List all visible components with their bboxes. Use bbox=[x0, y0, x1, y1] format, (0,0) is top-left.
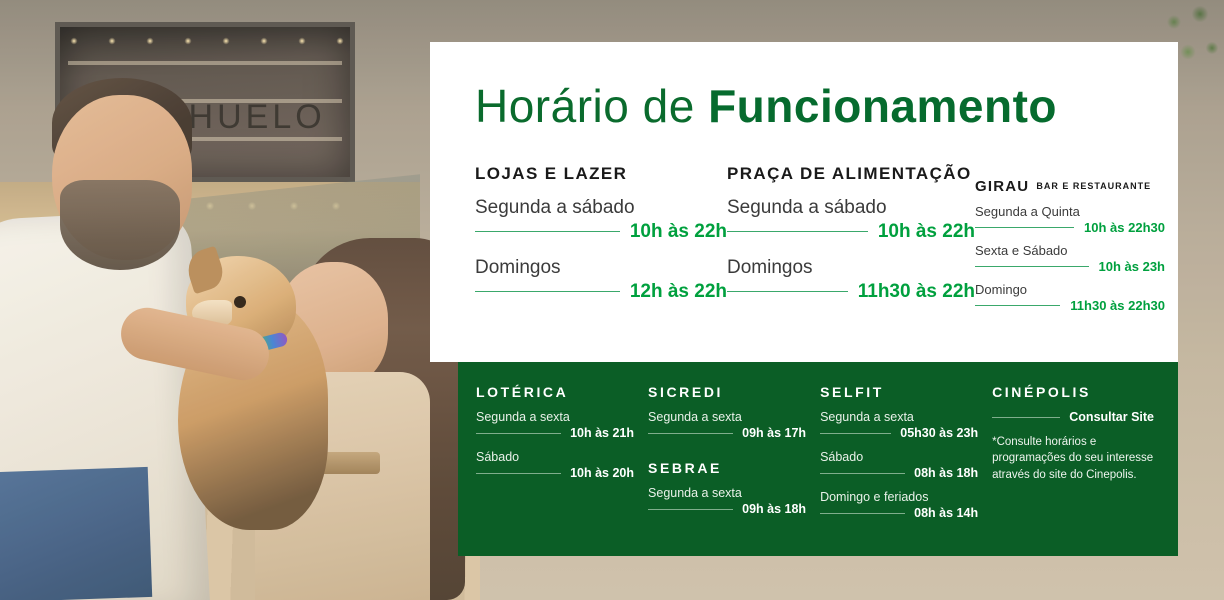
time-value: 10h às 20h bbox=[570, 466, 634, 480]
hours-green-panel: LOTÉRICA Segunda a sexta 10h às 21h Sába… bbox=[458, 362, 1178, 556]
column-selfit: SELFIT Segunda a sexta 05h30 às 23h Sába… bbox=[820, 384, 992, 530]
hours-entry: Segunda a sábado 10h às 22h bbox=[727, 197, 975, 243]
day-label: Sábado bbox=[476, 450, 634, 464]
time-value: 05h30 às 23h bbox=[900, 426, 978, 440]
time-value: 11h30 às 22h30 bbox=[1070, 298, 1165, 313]
green-columns: LOTÉRICA Segunda a sexta 10h às 21h Sába… bbox=[476, 384, 1168, 530]
page-title: Horário de Funcionamento bbox=[475, 82, 1057, 130]
time-value: 09h às 17h bbox=[742, 426, 806, 440]
rule-line bbox=[975, 227, 1074, 228]
hours-entry: Domingo 11h30 às 22h30 bbox=[975, 282, 1165, 313]
girau-subtitle: BAR E RESTAURANTE bbox=[1036, 181, 1151, 191]
page-root: CHUELO Horário de Funcionamento LOJAS E … bbox=[0, 0, 1224, 600]
time-value: 08h às 14h bbox=[914, 506, 978, 520]
section-title-girau: GIRAUBAR E RESTAURANTE bbox=[975, 178, 1165, 196]
hours-entry: Segunda a sexta 09h às 18h bbox=[648, 486, 806, 516]
time-row: 09h às 18h bbox=[648, 502, 806, 516]
column-loterica: LOTÉRICA Segunda a sexta 10h às 21h Sába… bbox=[476, 384, 648, 530]
section-title-selfit: SELFIT bbox=[820, 384, 978, 400]
hours-entry: Segunda a sexta 10h às 21h bbox=[476, 410, 634, 440]
time-row: 05h30 às 23h bbox=[820, 426, 978, 440]
time-value: 09h às 18h bbox=[742, 502, 806, 516]
time-row: 10h às 23h bbox=[975, 259, 1165, 274]
time-value: 12h às 22h bbox=[630, 281, 727, 303]
white-columns: LOJAS E LAZER Segunda a sábado 10h às 22… bbox=[475, 164, 1165, 321]
hours-entry: Domingos 12h às 22h bbox=[475, 257, 727, 303]
rule-line bbox=[727, 231, 868, 232]
time-row: 12h às 22h bbox=[475, 281, 727, 303]
hours-white-card: Horário de Funcionamento LOJAS E LAZER S… bbox=[430, 42, 1178, 362]
day-label: Segunda a Quinta bbox=[975, 204, 1165, 219]
time-row: 11h30 às 22h bbox=[727, 281, 975, 303]
hours-entry: Domingos 11h30 às 22h bbox=[727, 257, 975, 303]
time-row: 08h às 18h bbox=[820, 466, 978, 480]
rule-line bbox=[475, 291, 620, 292]
cinepolis-note: *Consulte horários e programações do seu… bbox=[992, 434, 1154, 483]
time-value: 10h às 22h bbox=[878, 221, 975, 243]
day-label: Segunda a sexta bbox=[648, 410, 806, 424]
rule-line bbox=[475, 231, 620, 232]
day-label: Segunda a sábado bbox=[727, 197, 975, 219]
time-value: 11h30 às 22h bbox=[858, 281, 975, 303]
time-row: 09h às 17h bbox=[648, 426, 806, 440]
page-title-bold: Funcionamento bbox=[708, 80, 1057, 132]
column-sicredi-sebrae: SICREDI Segunda a sexta 09h às 17h SEBRA… bbox=[648, 384, 820, 530]
day-label: Domingos bbox=[475, 257, 727, 279]
time-row: 10h às 20h bbox=[476, 466, 634, 480]
hours-entry: Segunda a sexta 09h às 17h bbox=[648, 410, 806, 440]
time-row: 11h30 às 22h30 bbox=[975, 298, 1165, 313]
time-row: 10h às 22h bbox=[475, 221, 727, 243]
section-title-sebrae: SEBRAE bbox=[648, 460, 806, 476]
day-label: Domingos bbox=[727, 257, 975, 279]
hours-entry: Segunda a sábado 10h às 22h bbox=[475, 197, 727, 243]
section-title-lojas: LOJAS E LAZER bbox=[475, 164, 727, 185]
day-label: Segunda a sábado bbox=[475, 197, 727, 219]
time-value: 10h às 22h30 bbox=[1084, 220, 1165, 235]
time-value: 10h às 21h bbox=[570, 426, 634, 440]
column-girau: GIRAUBAR E RESTAURANTE Segunda a Quinta … bbox=[975, 164, 1165, 321]
section-title-praca: PRAÇA DE ALIMENTAÇÃO bbox=[727, 164, 975, 185]
column-lojas-e-lazer: LOJAS E LAZER Segunda a sábado 10h às 22… bbox=[475, 164, 727, 321]
hours-entry: Sábado 10h às 20h bbox=[476, 450, 634, 480]
page-title-light: Horário de bbox=[475, 80, 708, 132]
section-title-loterica: LOTÉRICA bbox=[476, 384, 634, 400]
rule-line bbox=[820, 473, 905, 474]
rule-line bbox=[648, 433, 733, 434]
day-label: Segunda a sexta bbox=[476, 410, 634, 424]
hours-entry: Segunda a sexta 05h30 às 23h bbox=[820, 410, 978, 440]
girau-name: GIRAU bbox=[975, 178, 1029, 195]
hours-entry: Sábado 08h às 18h bbox=[820, 450, 978, 480]
time-row: 10h às 22h30 bbox=[975, 220, 1165, 235]
day-label: Sexta e Sábado bbox=[975, 243, 1165, 258]
hours-entry: Domingo e feriados 08h às 14h bbox=[820, 490, 978, 520]
rule-line bbox=[727, 291, 848, 292]
time-value: 10h às 23h bbox=[1099, 259, 1166, 274]
time-row: 10h às 22h bbox=[727, 221, 975, 243]
rule-line bbox=[476, 433, 561, 434]
day-label: Domingo e feriados bbox=[820, 490, 978, 504]
day-label: Sábado bbox=[820, 450, 978, 464]
day-label: Segunda a sexta bbox=[648, 486, 806, 500]
rule-line bbox=[820, 433, 891, 434]
rule-line bbox=[648, 509, 733, 510]
day-label: Segunda a sexta bbox=[820, 410, 978, 424]
rule-line bbox=[476, 473, 561, 474]
column-praca-de-alimentacao: PRAÇA DE ALIMENTAÇÃO Segunda a sábado 10… bbox=[727, 164, 975, 321]
time-row: 08h às 14h bbox=[820, 506, 978, 520]
column-cinepolis: CINÉPOLIS Consultar Site *Consulte horár… bbox=[992, 384, 1168, 530]
day-label: Domingo bbox=[975, 282, 1165, 297]
rule-line bbox=[975, 305, 1060, 306]
section-title-sicredi: SICREDI bbox=[648, 384, 806, 400]
consultar-site-link[interactable]: Consultar Site bbox=[1069, 410, 1154, 424]
time-value: 08h às 18h bbox=[914, 466, 978, 480]
section-title-cinepolis: CINÉPOLIS bbox=[992, 384, 1154, 400]
rule-line bbox=[992, 417, 1060, 418]
hours-entry: Sexta e Sábado 10h às 23h bbox=[975, 243, 1165, 274]
time-row: Consultar Site bbox=[992, 410, 1154, 424]
time-value: 10h às 22h bbox=[630, 221, 727, 243]
time-row: 10h às 21h bbox=[476, 426, 634, 440]
hours-entry: Segunda a Quinta 10h às 22h30 bbox=[975, 204, 1165, 235]
rule-line bbox=[975, 266, 1089, 267]
rule-line bbox=[820, 513, 905, 514]
